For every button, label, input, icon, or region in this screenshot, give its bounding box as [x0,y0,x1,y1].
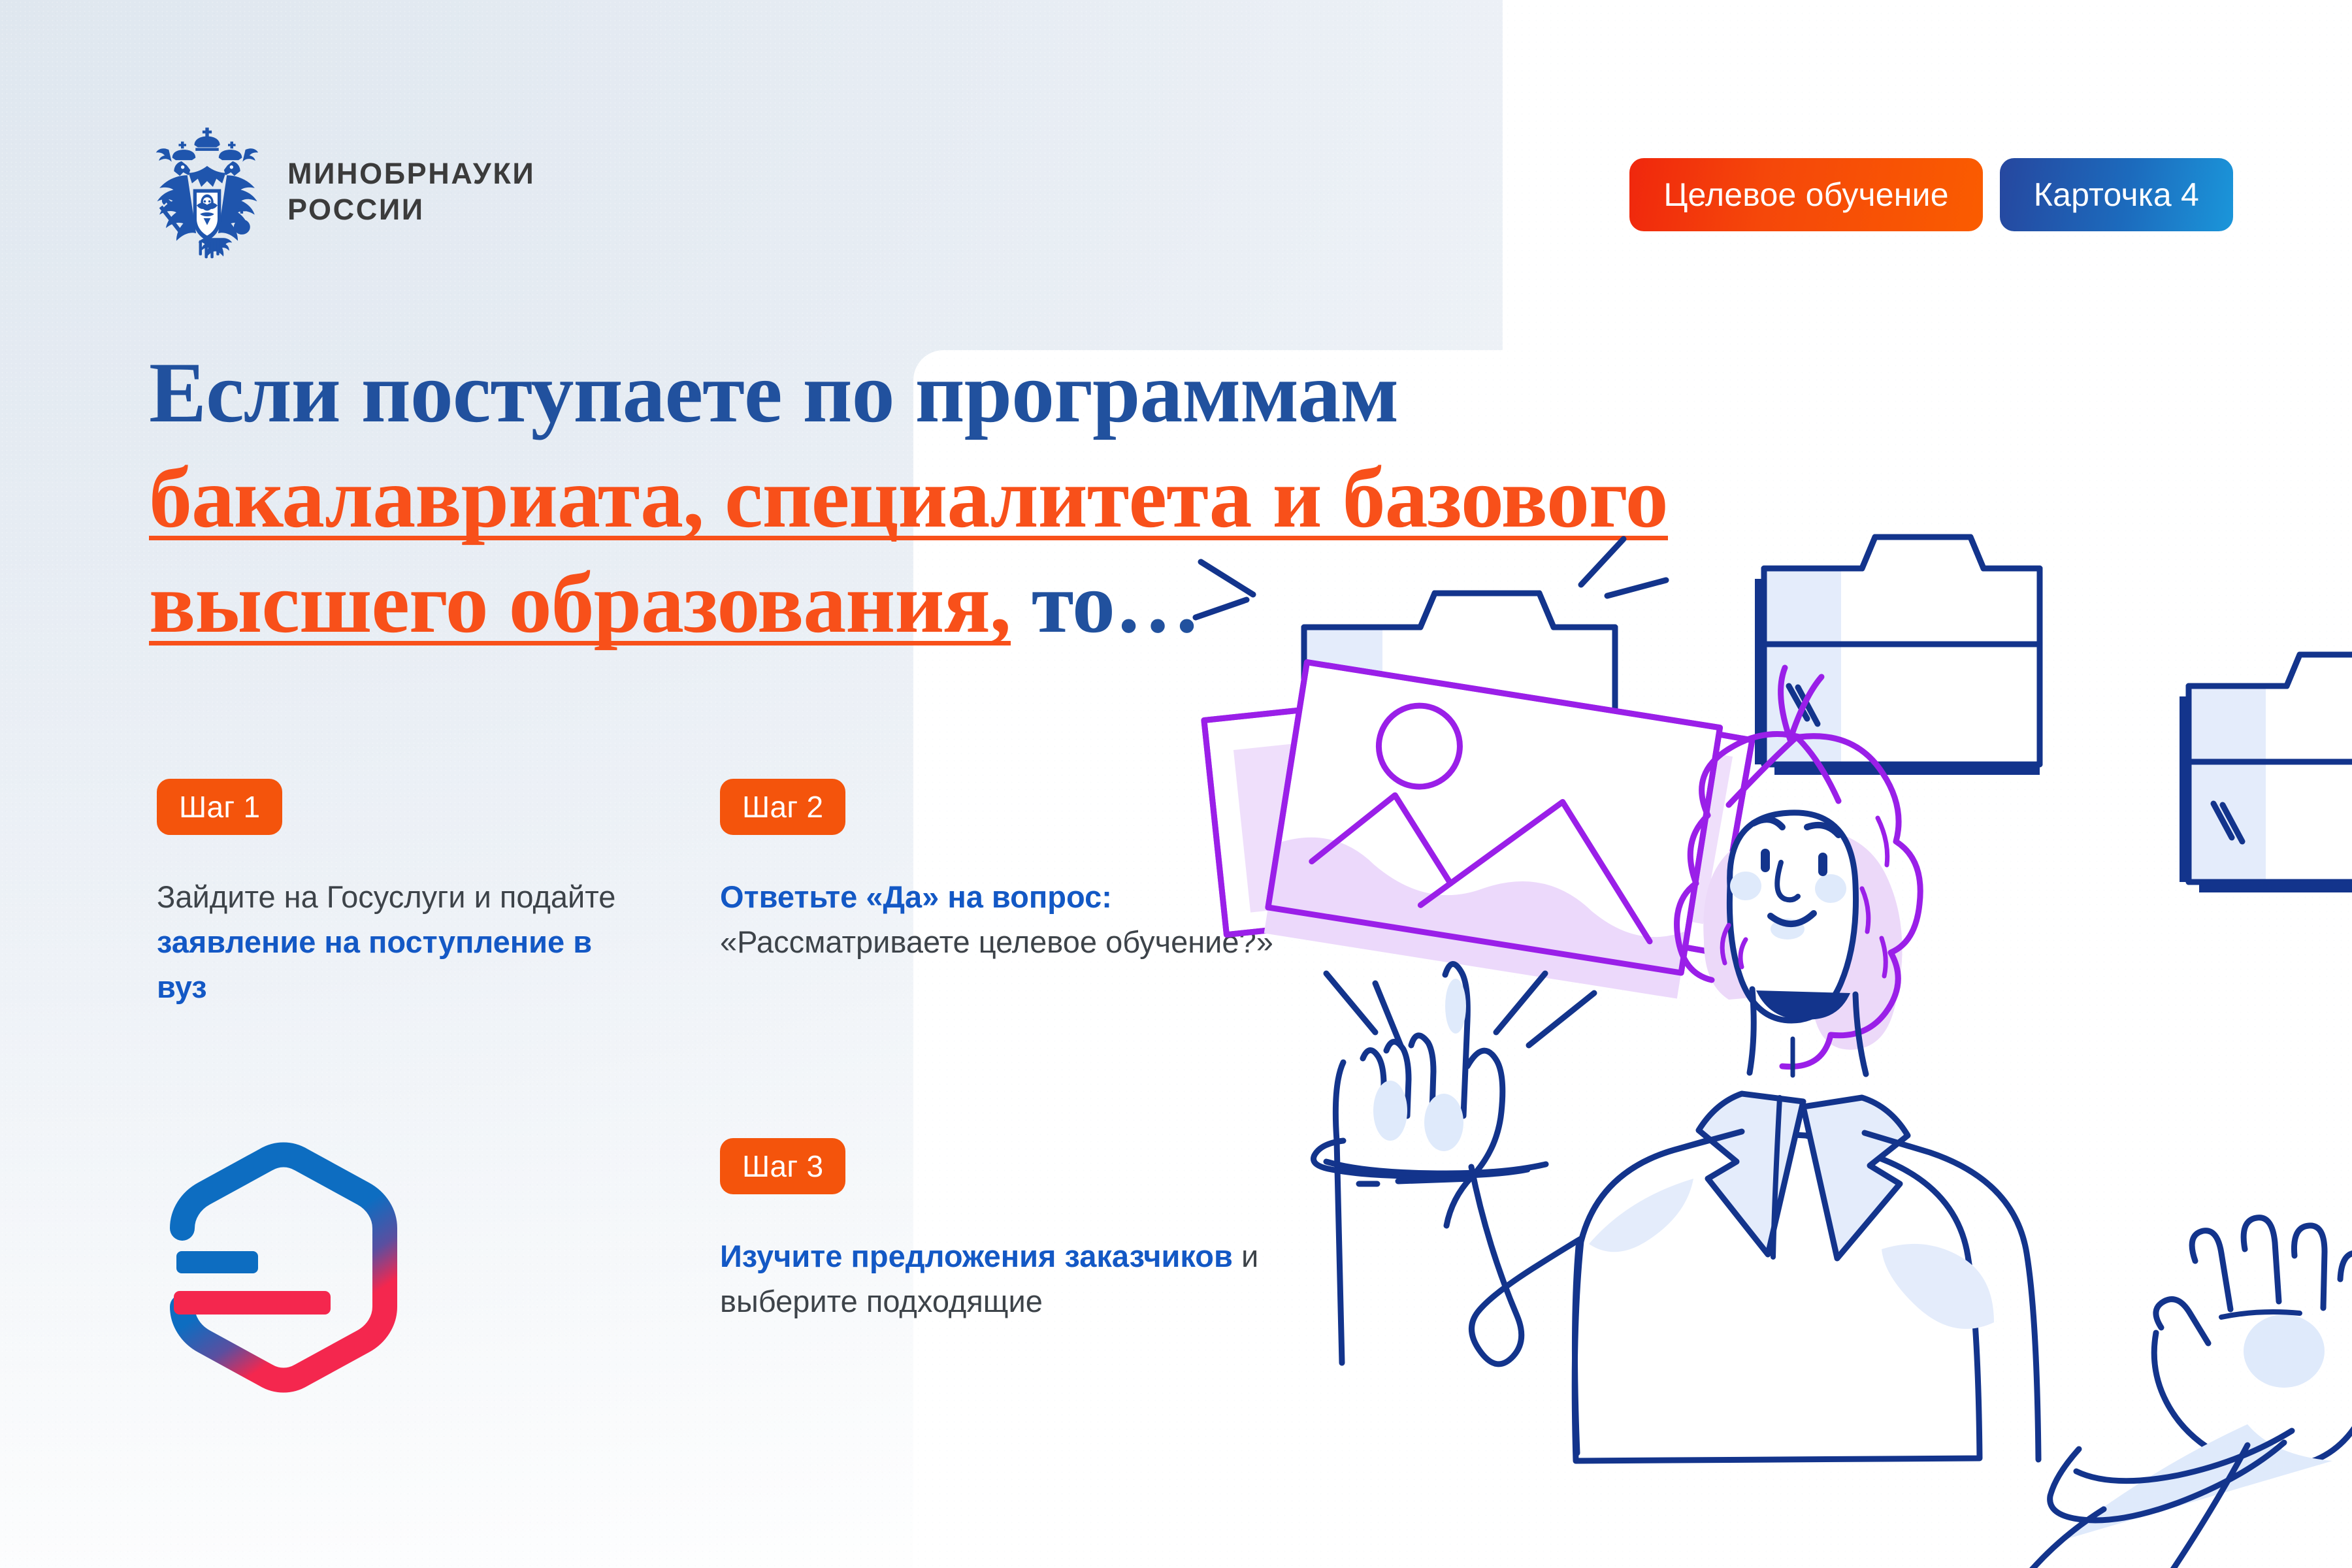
badge-card-number[interactable]: Карточка 4 [2000,158,2233,231]
step-2-badge: Шаг 2 [720,779,845,835]
step-1-text-bold: заявление на поступление в вуз [157,924,592,1004]
step-1-text-normal: Зайдите на Госуслуги и подайте [157,879,615,914]
step-1-text: Зайдите на Госуслуги и подайте заявление… [157,874,640,1009]
gosuslugi-logo-icon [152,1137,413,1398]
step-3: Шаг 3 Изучите предложения заказчиков и в… [720,1138,1295,1324]
waving-hand-icon [2025,1218,2352,1568]
headline-line-1: Если поступаете по программам [149,340,1880,445]
step-1-badge: Шаг 1 [157,779,282,835]
step-3-text: Изучите предложения заказчиков и выберит… [720,1233,1295,1324]
step-3-text-bold: Изучите предложения заказчиков [720,1239,1233,1273]
badge-topic[interactable]: Целевое обучение [1629,158,1982,231]
ministry-logo: МИНОБРНАУКИ РОССИИ [149,124,535,260]
step-2: Шаг 2 Ответьте «Да» на вопрос: «Рассматр… [720,779,1295,964]
step-2-text-normal: «Рассматриваете целевое обучение?» [720,924,1273,959]
headline-line-3-tail: то… [1011,555,1200,651]
step-1: Шаг 1 Зайдите на Госуслуги и подайте зая… [157,779,640,1009]
folder-icon-right [2180,655,2352,892]
step-3-badge: Шаг 3 [720,1138,845,1194]
header-badges: Целевое обучение Карточка 4 [1629,158,2233,231]
russian-coat-of-arms-icon [149,124,265,260]
headline-line-3: высшего образования, [149,555,1011,651]
photo-cards-icon [1204,662,1752,999]
step-2-text: Ответьте «Да» на вопрос: «Рассматриваете… [720,874,1295,964]
infographic-canvas: МИНОБРНАУКИ РОССИИ Целевое обучение Карт… [0,0,2352,1568]
ministry-name: МИНОБРНАУКИ РОССИИ [287,156,535,228]
illustration [1215,523,2352,1568]
step-2-text-bold: Ответьте «Да» на вопрос: [720,879,1112,914]
